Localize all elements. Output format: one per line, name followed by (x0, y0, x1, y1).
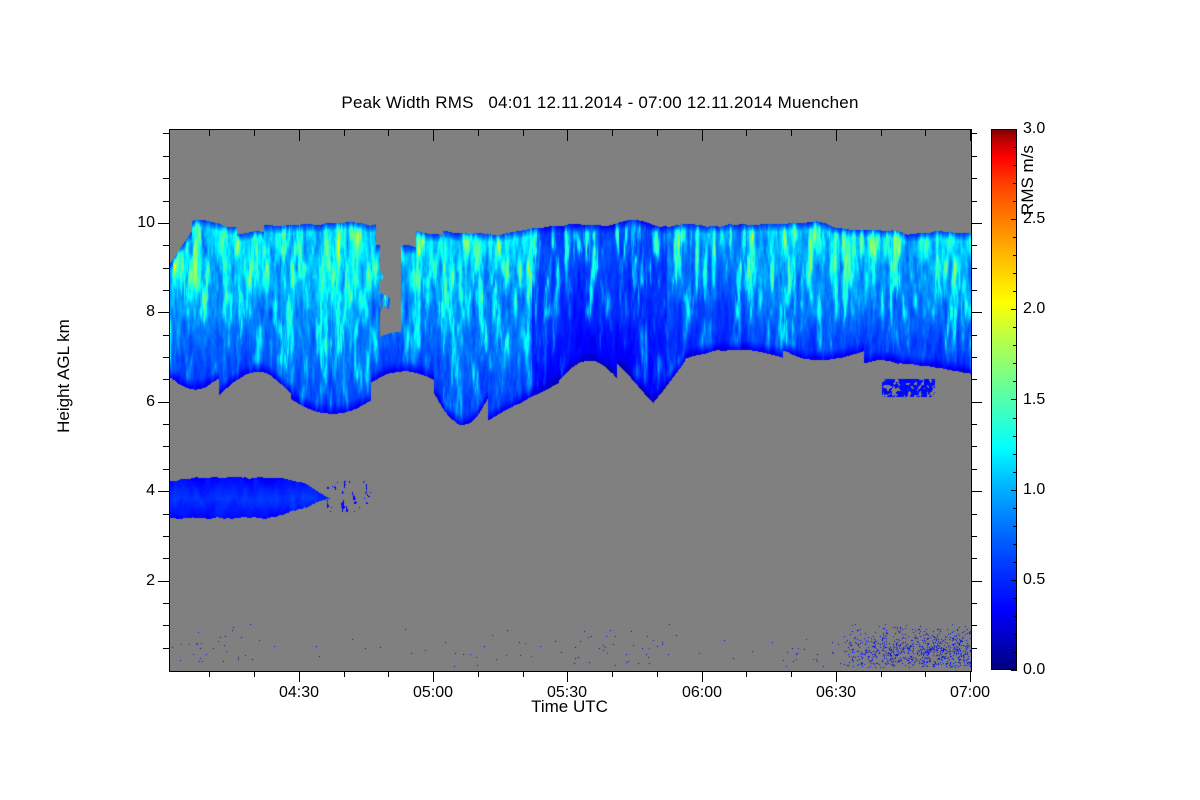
y-tick-mark-right (971, 625, 977, 626)
y-tick-mark (158, 312, 169, 313)
x-tick-mark (612, 671, 613, 677)
colorbar-tick-mark (1013, 291, 1017, 292)
y-tick-mark-right (971, 245, 977, 246)
y-tick-mark (163, 268, 169, 269)
colorbar-tick-mark (1011, 670, 1017, 671)
x-tick-mark (254, 671, 255, 677)
x-tick-mark-top (836, 130, 837, 141)
colorbar-tick-label-0: 0.0 (1023, 661, 1045, 679)
x-tick-mark-top (478, 130, 479, 136)
y-tick-mark (158, 223, 169, 224)
x-tick-mark-top (657, 130, 658, 136)
colorbar-tick-mark (1013, 616, 1017, 617)
x-tick-mark-top (567, 130, 568, 141)
y-tick-mark (158, 491, 169, 492)
x-tick-mark (433, 671, 434, 682)
y-tick-mark (163, 357, 169, 358)
y-tick-mark (163, 469, 169, 470)
colorbar-tick-mark (1013, 327, 1017, 328)
x-tick-mark (836, 671, 837, 682)
colorbar-tick-label-2: 1.0 (1023, 481, 1045, 499)
colorbar-tick-mark (1013, 562, 1017, 563)
colorbar-tick-mark (1013, 544, 1017, 545)
y-tick-mark (163, 648, 169, 649)
y-tick-mark (163, 290, 169, 291)
y-tick-mark-right (971, 603, 977, 604)
colorbar-tick-mark (1013, 526, 1017, 527)
colorbar-tick-mark (1013, 436, 1017, 437)
y-tick-mark-right (971, 402, 982, 403)
y-tick-label-0: 2 (119, 572, 155, 590)
y-tick-mark-right (971, 156, 977, 157)
colorbar-tick-mark (1013, 147, 1017, 148)
y-tick-mark-right (971, 223, 982, 224)
y-tick-mark (163, 178, 169, 179)
x-tick-mark (209, 671, 210, 677)
x-tick-mark-top (791, 130, 792, 136)
x-tick-mark (746, 671, 747, 677)
x-tick-mark-top (970, 130, 971, 141)
colorbar-tick-mark (1013, 201, 1017, 202)
y-tick-mark-right (971, 424, 977, 425)
colorbar-tick-mark (1013, 454, 1017, 455)
y-tick-mark-right (971, 446, 977, 447)
x-axis-title: Time UTC (169, 697, 970, 717)
x-tick-mark-top (702, 130, 703, 141)
colorbar-tick-mark (1011, 309, 1017, 310)
y-tick-mark-right (971, 536, 977, 537)
y-tick-mark-right (971, 491, 982, 492)
y-tick-mark-right (971, 357, 977, 358)
x-tick-mark (567, 671, 568, 682)
x-tick-mark-top (925, 130, 926, 136)
colorbar-tick-mark (1013, 472, 1017, 473)
x-tick-mark-top (299, 130, 300, 141)
y-tick-mark (163, 379, 169, 380)
y-tick-mark (163, 558, 169, 559)
colorbar-tick-mark (1013, 598, 1017, 599)
y-tick-mark (158, 581, 169, 582)
x-tick-mark (344, 671, 345, 677)
figure-canvas: Peak Width RMS 04:01 12.11.2014 - 07:00 … (0, 0, 1200, 800)
x-tick-mark-top (612, 130, 613, 136)
colorbar-tick-mark (1011, 219, 1017, 220)
heatmap-plot-area[interactable] (169, 129, 972, 672)
y-tick-mark (163, 133, 169, 134)
colorbar-tick-mark (1011, 399, 1017, 400)
y-tick-mark (163, 446, 169, 447)
y-tick-mark (163, 625, 169, 626)
colorbar-tick-mark (1013, 652, 1017, 653)
y-tick-mark-right (971, 648, 977, 649)
colorbar-tick-label-3: 1.5 (1023, 391, 1045, 409)
x-tick-mark (702, 671, 703, 682)
y-tick-mark-right (971, 469, 977, 470)
x-tick-mark (657, 671, 658, 677)
y-tick-label-4: 10 (119, 214, 155, 232)
x-tick-mark (523, 671, 524, 677)
y-tick-mark (158, 402, 169, 403)
x-tick-mark (881, 671, 882, 677)
colorbar-tick-label-1: 0.5 (1023, 571, 1045, 589)
y-tick-mark (163, 603, 169, 604)
x-tick-mark-top (344, 130, 345, 136)
y-tick-mark (163, 201, 169, 202)
colorbar-tick-mark (1013, 508, 1017, 509)
x-tick-mark (925, 671, 926, 677)
x-tick-mark (478, 671, 479, 677)
x-tick-mark-top (209, 130, 210, 136)
y-tick-mark-right (971, 290, 977, 291)
y-tick-mark (163, 514, 169, 515)
y-tick-mark-right (971, 379, 977, 380)
y-axis-title: Height AGL km (54, 266, 74, 486)
y-tick-mark-right (971, 514, 977, 515)
x-tick-mark (791, 671, 792, 677)
colorbar-tick-mark (1013, 255, 1017, 256)
x-tick-mark-top (388, 130, 389, 136)
colorbar-tick-mark (1013, 237, 1017, 238)
y-tick-mark (163, 424, 169, 425)
colorbar-tick-mark (1013, 634, 1017, 635)
colorbar-tick-mark (1013, 418, 1017, 419)
y-tick-mark-right (971, 558, 977, 559)
y-tick-mark-right (971, 335, 977, 336)
x-tick-mark-top (254, 130, 255, 136)
y-tick-mark (163, 245, 169, 246)
y-tick-mark (163, 335, 169, 336)
x-tick-mark-top (433, 130, 434, 141)
y-tick-mark-right (971, 178, 977, 179)
colorbar-title: RMS m/s (1018, 100, 1038, 260)
colorbar-tick-mark (1013, 165, 1017, 166)
x-tick-mark (970, 671, 971, 682)
y-tick-mark-right (971, 581, 982, 582)
x-tick-mark (299, 671, 300, 682)
y-tick-mark-right (971, 133, 977, 134)
x-tick-mark (388, 671, 389, 677)
colorbar-tick-label-4: 2.0 (1023, 300, 1045, 318)
colorbar[interactable]: 0.00.51.01.52.02.53.0 (991, 129, 1017, 670)
colorbar-tick-mark (1013, 363, 1017, 364)
y-tick-mark (163, 156, 169, 157)
y-tick-label-1: 4 (119, 482, 155, 500)
colorbar-tick-mark (1013, 345, 1017, 346)
y-tick-mark-right (971, 268, 977, 269)
colorbar-tick-mark (1011, 580, 1017, 581)
colorbar-tick-mark (1011, 490, 1017, 491)
colorbar-tick-mark (1011, 129, 1017, 130)
x-tick-mark-top (523, 130, 524, 136)
y-tick-mark (163, 536, 169, 537)
colorbar-tick-mark (1013, 273, 1017, 274)
x-tick-mark-top (746, 130, 747, 136)
y-tick-label-3: 8 (119, 303, 155, 321)
colorbar-tick-mark (1013, 183, 1017, 184)
y-tick-mark-right (971, 312, 982, 313)
x-tick-mark-top (881, 130, 882, 136)
colorbar-tick-mark (1013, 381, 1017, 382)
y-tick-mark-right (971, 201, 977, 202)
y-tick-label-2: 6 (119, 393, 155, 411)
heatmap-canvas (170, 130, 971, 671)
